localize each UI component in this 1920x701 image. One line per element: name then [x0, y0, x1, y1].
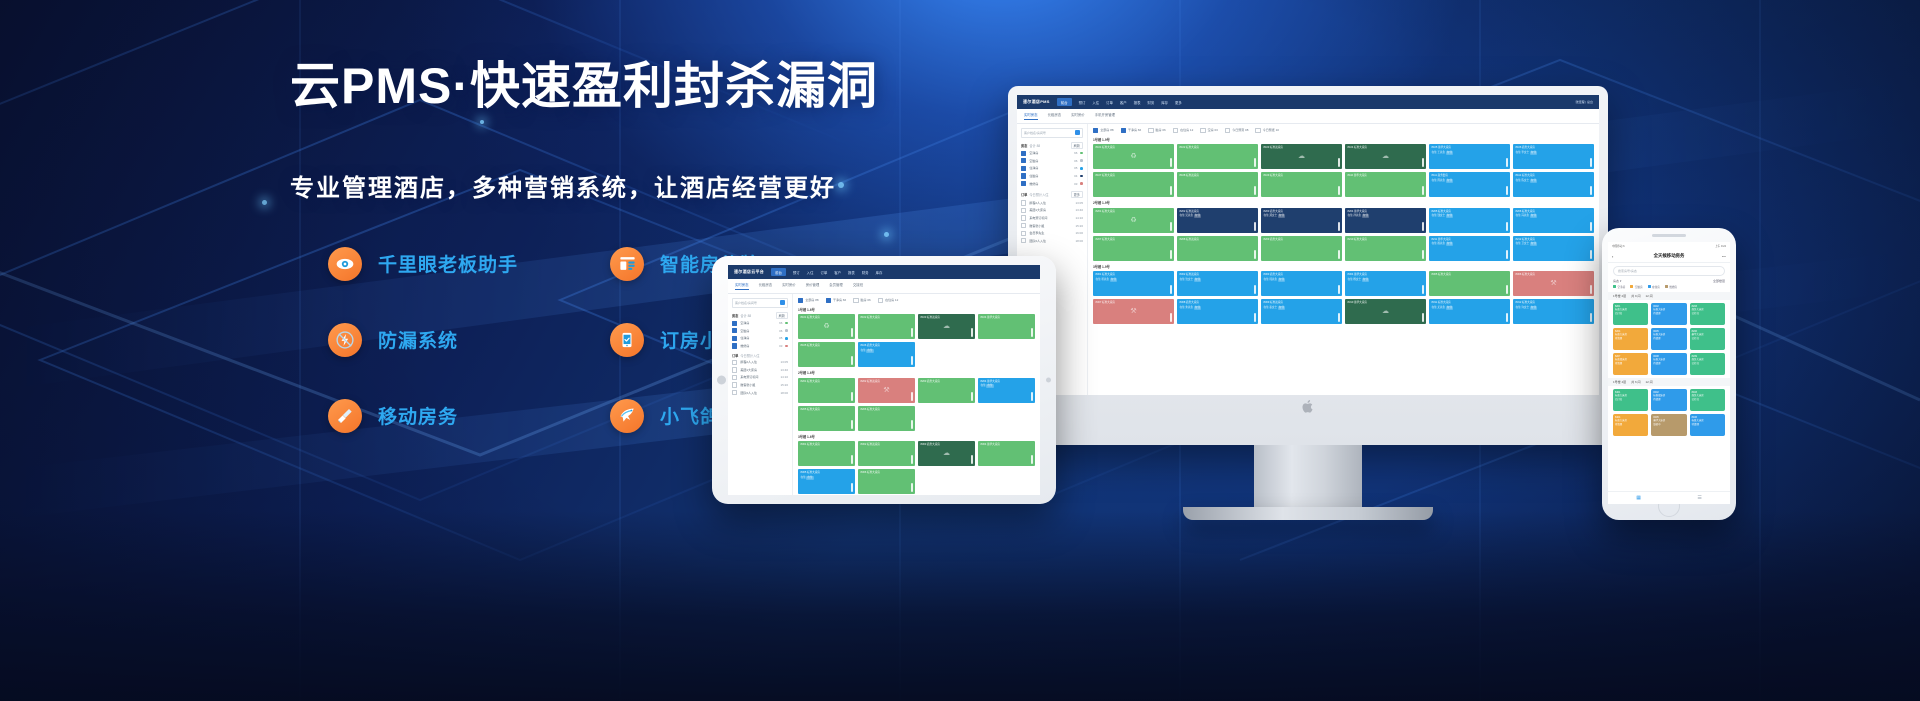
room-card[interactable]: 8205 标准大床房在住 钱女士 在住	[1429, 208, 1510, 233]
legend-value: 04	[1074, 174, 1077, 178]
legend-checkbox[interactable]	[1021, 181, 1026, 186]
tablet-nav-item-customers[interactable]: 客户	[834, 270, 841, 275]
room-card[interactable]: 8204 豪华大床房在住 在住	[978, 378, 1035, 403]
room-card[interactable]: 8308 商务大床房在住 朱先生 在住	[1177, 299, 1258, 324]
legend-checkbox[interactable]	[732, 328, 737, 333]
room-card[interactable]: 8304 豪华大床房在住 杨女士 在住	[1345, 271, 1426, 296]
room-progress-bar	[1506, 285, 1508, 294]
nav-item-booking[interactable]: 预订	[1079, 100, 1086, 105]
tablet-orders-list: 携程2人入住13:05美团1大床房13:40来电预订标间14:10散客张小姐15…	[732, 360, 788, 396]
room-card[interactable]: 8305 标准大床房	[1429, 271, 1510, 296]
nav-item-frontdesk[interactable]: 前台	[1057, 98, 1072, 106]
order-row[interactable]: 团队6人入住18:00	[1021, 238, 1083, 243]
room-filter-checkbox[interactable]: 全部房 88	[798, 298, 819, 303]
room-number-and-type: 8205 标准大床房	[801, 408, 853, 412]
tablet-nav-item-frontdesk[interactable]: 前台	[771, 268, 786, 276]
legend-color-dot	[1080, 175, 1083, 178]
room-card[interactable]: 8312 标准大床房在住 许女士 在住	[1513, 299, 1594, 324]
tablet-tab-rates[interactable]: 实时房价	[782, 282, 796, 290]
order-title: 订单	[1021, 192, 1027, 197]
carrier-label: 中国移动 ὏6	[1612, 244, 1625, 248]
phone-room-card[interactable]: 8406标准大床房待清理	[1690, 414, 1725, 436]
checkbox-box[interactable]	[826, 298, 831, 303]
room-progress-bar	[1338, 313, 1340, 322]
room-progress-bar	[1338, 222, 1340, 231]
room-progress-bar	[1506, 313, 1508, 322]
room-status-header: 房态 合计 88 刷新	[1021, 142, 1083, 149]
room-number-and-type: 8104 豪华大床房	[981, 316, 1033, 320]
phone-floor-heading: 1号楼 4层共 6 间12 间	[1608, 378, 1730, 386]
pms-main-panel: 全部房 88干净房 66脏房 06在住房 12空房 03今日预离 08今日预抵 …	[1088, 124, 1599, 396]
room-card[interactable]: 8112 标准大床房在住 陈女士 在住	[1513, 172, 1594, 197]
phone-legend: 空净房空脏房在住房维修房	[1608, 285, 1730, 292]
room-card[interactable]: 8303 商务大床房在住 韩先生 在住	[1261, 271, 1342, 296]
room-card[interactable]: 8206 标准大床房在住 冯先生 在住	[1513, 208, 1594, 233]
tablet-nav-item-inventory[interactable]: 库存	[876, 270, 883, 275]
checkbox-box[interactable]	[1148, 128, 1153, 133]
order-time: 13:40	[1075, 208, 1083, 212]
nav-item-reports[interactable]: 报表	[1134, 100, 1141, 105]
room-card[interactable]: 8106 商务大床房在住 李女士 在住	[1513, 144, 1594, 169]
room-status-legend-row[interactable]: 空脏房06	[732, 328, 788, 333]
desktop-monitor-mockup: 速尔酒店PMS 前台 预订 入住 订单 客户 报表 财务 库存 更多 张经理 |…	[1008, 86, 1608, 520]
room-card[interactable]: 8109 标准大床房	[1261, 172, 1342, 197]
room-card[interactable]: 8201 标准大床房♻	[1093, 208, 1174, 233]
room-progress-bar	[971, 392, 973, 401]
room-card[interactable]: 8304 豪华大床房	[978, 441, 1035, 466]
room-number-and-type: 8108 标准双床房	[1180, 174, 1256, 178]
legend-checkbox[interactable]	[1021, 173, 1026, 178]
room-card[interactable]: 8301 标准大床房在住 蒋先生 在住	[1093, 271, 1174, 296]
room-number-and-type: 8103 标准双床房	[1264, 146, 1340, 150]
monitor-chin	[1017, 395, 1599, 417]
arriving-orders-list: 携程2人入住13:05美团1大床房13:40来电预订标间14:10散客张小姐15…	[1021, 200, 1083, 243]
room-status-legend-row[interactable]: 维修房03	[732, 343, 788, 348]
tablet-tab-shift[interactable]: 交接班	[853, 282, 863, 290]
order-checkbox[interactable]	[732, 390, 737, 395]
room-card[interactable]: 8202 标准双床房在住 吴先生 在住	[1177, 208, 1258, 233]
phone-legend-item: 空净房	[1613, 285, 1625, 289]
feature-item-antileak[interactable]: 防漏系统	[328, 323, 610, 357]
phone-room-state: 待清理	[1615, 337, 1646, 340]
nav-item-finance[interactable]: 财务	[1147, 100, 1154, 105]
search-icon[interactable]	[1075, 130, 1080, 135]
tablet-search-placeholder: 客户姓名/房间号	[735, 301, 757, 305]
tablet-search-input[interactable]: 客户姓名/房间号	[732, 298, 788, 308]
room-number-and-type: 8101 标准大床房	[1096, 146, 1172, 150]
tablet-tab-realtime-status[interactable]: 实时房态	[735, 282, 749, 290]
pms-body: 客户姓名/房间号 房态 合计 88 刷新 空净房66空脏房06住净房05住脏房0…	[1017, 124, 1599, 396]
phone-floor-meta2: 12 间	[1646, 294, 1653, 298]
tablet-search-icon[interactable]	[780, 300, 785, 305]
room-card[interactable]: 8108 标准双床房	[1177, 172, 1258, 197]
phone-room-card[interactable]: 8202标准大床房待清理	[1651, 303, 1686, 325]
room-card[interactable]: 8210 标准大床房	[1345, 236, 1426, 261]
phone-room-card[interactable]: 8401标准大床房已打扫	[1613, 389, 1648, 411]
floor-heading: 3号楼 1-6号	[798, 434, 1035, 439]
tablet-room-status-title: 房态	[732, 313, 738, 318]
room-card[interactable]: 8104 豪华大床房	[978, 314, 1035, 339]
tab-mobile-checkin-mgmt[interactable]: 手机开房管理	[1095, 112, 1115, 120]
room-card[interactable]: 8212 标准大床房在住 卫女士 在住	[1513, 236, 1594, 261]
phone-room-card[interactable]: 8205标准大床房待清理	[1651, 328, 1686, 350]
order-row[interactable]: 携程2人入住13:05	[1021, 200, 1083, 205]
room-card[interactable]: 8104 标准大床房☁	[1345, 144, 1426, 169]
room-card[interactable]: 8306 标准大床房	[858, 469, 915, 494]
room-card[interactable]: 8202 标准双床房⚒	[858, 378, 915, 403]
room-state-icon: ♻	[823, 322, 829, 333]
phone-room-state: 已打扫	[1692, 312, 1723, 315]
checkbox-label: 在住房 12	[1180, 128, 1193, 132]
room-progress-bar	[1422, 186, 1424, 195]
room-number-and-type: 8110 豪华大床房	[1348, 174, 1424, 178]
room-filter-checkboxes: 全部房 88干净房 66脏房 06在住房 12空房 03今日预离 08今日预抵 …	[1093, 128, 1594, 133]
tablet-tab-rate-mgmt[interactable]: 房价管理	[806, 282, 820, 290]
order-row[interactable]: 美团1大床房13:40	[1021, 208, 1083, 213]
hero-banner: 云PMS·快速盈利封杀漏洞 专业管理酒店，多种营销系统，让酒店经营更好 千里眼老…	[0, 0, 1920, 701]
room-progress-bar	[1170, 250, 1172, 259]
checkbox-box[interactable]	[878, 298, 883, 303]
room-occupant: 在住 钱女士 在住	[1432, 214, 1508, 218]
phone-room-card[interactable]: 8208标准大床房待清理	[1651, 353, 1686, 375]
room-card[interactable]: 8211 豪华大床房在住 褚先生 在住	[1429, 236, 1510, 261]
phone-room-card[interactable]: 8207标准双床房待清理	[1613, 353, 1648, 375]
checkbox-box[interactable]	[1093, 128, 1098, 133]
order-checkbox[interactable]	[732, 367, 737, 372]
nav-item-checkin[interactable]: 入住	[1092, 100, 1099, 105]
room-grid-container: 1号楼 1-9号8101 标准大床房♻8102 标准大床房8103 标准双床房☁…	[1093, 137, 1594, 325]
room-progress-bar	[1422, 250, 1424, 259]
phone-legend-item: 空脏房	[1630, 285, 1642, 289]
room-card[interactable]: 8204 豪华大床房在住 孙先生 在住	[1345, 208, 1426, 233]
nav-user-info[interactable]: 张经理 | 总台	[1576, 100, 1593, 104]
room-filter-checkbox[interactable]: 干净房 66	[1121, 128, 1142, 133]
legend-checkbox[interactable]	[732, 321, 737, 326]
legend-checkbox[interactable]	[732, 336, 737, 341]
room-card[interactable]: 8203 商务大床房在住 郑女士 在住	[1261, 208, 1342, 233]
order-checkbox[interactable]	[1021, 215, 1026, 220]
monitor-bezel: 速尔酒店PMS 前台 预订 入住 订单 客户 报表 财务 库存 更多 张经理 |…	[1008, 86, 1608, 445]
tablet-camera	[1046, 378, 1051, 383]
tablet-nav-item-orders[interactable]: 订单	[820, 270, 827, 275]
checkbox-label: 脏房 06	[861, 298, 871, 302]
room-card[interactable]: 8102 标准大床房	[858, 314, 915, 339]
phone-room-state: 待清理	[1653, 398, 1684, 401]
back-icon[interactable]: ‹	[1612, 254, 1613, 259]
floor-heading: 1号楼 1-9号	[1093, 137, 1594, 142]
checkbox-label: 今日预抵 10	[1263, 128, 1279, 132]
legend-swatch	[1648, 285, 1651, 288]
checkbox-box[interactable]	[1121, 128, 1126, 133]
phone-room-card[interactable]: 8206豪华大床房已打扫	[1690, 328, 1725, 350]
order-checkbox[interactable]	[1021, 208, 1026, 213]
room-card[interactable]: 8101 标准大床房♻	[798, 314, 855, 339]
tablet-refresh-button[interactable]: 刷新	[776, 312, 788, 319]
phone-room-state: 已打扫	[1692, 398, 1723, 401]
phone-room-grid: 8401标准大床房已打扫8402标准双床房待清理8403商务大床房已打扫8404…	[1608, 386, 1730, 439]
tablet-room-status-header: 房态 合计 88 刷新	[732, 312, 788, 319]
room-card[interactable]: 8206 标准大床房	[858, 406, 915, 431]
legend-label: 空净房	[740, 321, 749, 325]
phone-room-card[interactable]: 8403商务大床房已打扫	[1690, 389, 1725, 411]
room-chip: 在住	[1530, 306, 1537, 310]
room-filter-checkbox[interactable]: 今日预抵 10	[1255, 128, 1279, 133]
room-filter-checkbox[interactable]: 全部房 88	[1093, 128, 1114, 133]
order-label: 美团1大床房	[1029, 208, 1046, 212]
order-label: 携程2人入住	[1029, 201, 1046, 205]
order-row[interactable]: 散客张小姐15:20	[1021, 223, 1083, 228]
phone-screen: 中国移动 ὏6 上午 9:24 ‹ 全天候移动房务 ⋯ 搜索房号/房态 房态 ▾…	[1608, 242, 1730, 504]
tablet-sidebar: 客户姓名/房间号 房态 合计 88 刷新 空净房66空脏房06住净房05维修房0…	[728, 294, 793, 496]
room-card[interactable]: 8307 标准大床房⚒	[1093, 299, 1174, 324]
room-status-legend-row[interactable]: 住净房05	[732, 336, 788, 341]
phone-room-grid: 8201标准大床房已打扫8202标准大床房待清理8203商务大床房已打扫8204…	[1608, 300, 1730, 378]
order-checkbox[interactable]	[732, 360, 737, 365]
room-filter-checkbox[interactable]: 脏房 06	[853, 298, 871, 303]
order-row[interactable]: 美团1大床房13:40	[732, 367, 788, 372]
order-time: 13:05	[1075, 201, 1083, 205]
room-card[interactable]: 8105 豪华大床房在住 王先生 在住	[1429, 144, 1510, 169]
order-time: 14:10	[780, 375, 788, 379]
room-number-and-type: 8307 标准大床房	[1096, 301, 1172, 305]
phone-floor-meta: 共 9 间	[1631, 294, 1640, 298]
room-status-legend-row[interactable]: 住脏房04	[1021, 173, 1083, 178]
order-time: 18:00	[1075, 239, 1083, 243]
nav-item-inventory[interactable]: 库存	[1161, 100, 1168, 105]
tablet-nav-item-checkin[interactable]: 入住	[807, 270, 814, 275]
room-progress-bar	[1338, 158, 1340, 167]
legend-value: 66	[779, 321, 782, 325]
order-time: 15:20	[1075, 224, 1083, 228]
room-progress-bar	[911, 420, 913, 429]
phone-room-state: 已打扫	[1615, 398, 1646, 401]
room-chip: 在住	[1278, 278, 1285, 282]
room-progress-bar	[1254, 313, 1256, 322]
room-card[interactable]: 8205 标准大床房	[798, 406, 855, 431]
checkbox-box[interactable]	[1173, 128, 1178, 133]
checkbox-box[interactable]	[1200, 128, 1205, 133]
phone-floor-filter[interactable]: 全部楼层	[1713, 279, 1725, 283]
room-occupant: 在住 蒋先生 在住	[1096, 278, 1172, 282]
room-grid: 8301 标准大床房8302 标准双床房8303 商务大床房☁8304 豪华大床…	[798, 441, 1035, 494]
more-options-icon[interactable]: ⋯	[1722, 254, 1726, 259]
room-card[interactable]: 8306 标准大床房⚒	[1513, 271, 1594, 296]
room-card[interactable]: 8105 标准大床房	[798, 342, 855, 367]
pigeon-icon	[610, 399, 644, 433]
room-number-and-type: 8109 标准大床房	[1264, 174, 1340, 178]
room-card[interactable]: 8311 标准大床房在住 尤先生 在住	[1429, 299, 1510, 324]
room-chip: 在住	[1446, 151, 1453, 155]
tablet-tab-member-mgmt[interactable]: 会员管理	[829, 282, 843, 290]
legend-value: 05	[1074, 166, 1077, 170]
order-checkbox[interactable]	[1021, 231, 1026, 236]
room-number-and-type: 8203 商务大床房	[921, 380, 973, 384]
order-row[interactable]: 来电预订标间14:10	[732, 375, 788, 380]
search-input[interactable]: 客户姓名/房间号	[1021, 128, 1083, 138]
room-progress-bar	[1254, 222, 1256, 231]
room-card[interactable]: 8101 标准大床房♻	[1093, 144, 1174, 169]
room-filter-checkbox[interactable]: 今日预离 08	[1225, 128, 1249, 133]
room-filter-checkbox[interactable]: 干净房 66	[826, 298, 847, 303]
refresh-button[interactable]: 刷新	[1071, 142, 1083, 149]
checkbox-box[interactable]	[1225, 128, 1230, 133]
phone-search-placeholder: 搜索房号/房态	[1618, 269, 1637, 273]
room-card[interactable]: 8310 豪华大床房☁	[1345, 299, 1426, 324]
order-checkbox[interactable]	[732, 375, 737, 380]
room-progress-bar	[851, 392, 853, 401]
checkbox-label: 干净房 66	[1128, 128, 1141, 132]
legend-checkbox[interactable]	[732, 343, 737, 348]
room-number-and-type: 8305 标准大床房	[1432, 273, 1508, 277]
legend-checkbox[interactable]	[1021, 151, 1026, 156]
room-chip: 在住	[1530, 151, 1537, 155]
room-number-and-type: 8208 标准双床房	[1180, 238, 1256, 242]
tablet-order-header: 订单 今日预计入住	[732, 353, 788, 358]
legend-value: 66	[1074, 151, 1077, 155]
order-row[interactable]: 来电预订标间14:10	[1021, 215, 1083, 220]
nav-item-customers[interactable]: 客户	[1120, 100, 1127, 105]
room-chip: 在住	[1278, 306, 1285, 310]
tab-realtime-rates[interactable]: 实时房价	[1071, 112, 1085, 120]
legend-value: 03	[1074, 182, 1077, 186]
room-card[interactable]: 8302 标准双床房在住 沈女士 在住	[1177, 271, 1258, 296]
room-number-and-type: 8305 标准大床房	[801, 471, 853, 475]
room-card[interactable]: 8305 标准大床房在住 在住	[798, 469, 855, 494]
room-occupant: 在住 李女士 在住	[1516, 151, 1592, 155]
room-card[interactable]: 8201 标准大床房	[798, 378, 855, 403]
room-progress-bar	[1254, 250, 1256, 259]
phone-room-card[interactable]: 8201标准大床房已打扫	[1613, 303, 1648, 325]
room-card[interactable]: 8303 商务大床房☁	[918, 441, 975, 466]
phone-room-card[interactable]: 8405豪华大床房维修中	[1651, 414, 1686, 436]
phone-room-card[interactable]: 8204标准大床房待清理	[1613, 328, 1648, 350]
phone-room-card[interactable]: 8203商务大床房已打扫	[1690, 303, 1725, 325]
room-progress-bar	[911, 483, 913, 492]
order-label: 携程2人入住	[740, 360, 757, 364]
room-number-and-type: 8111 商务套房	[1432, 174, 1508, 178]
room-card[interactable]: 8111 商务套房在住 周先生 在住	[1429, 172, 1510, 197]
legend-checkbox[interactable]	[1021, 158, 1026, 163]
room-filter-checkbox[interactable]: 在住房 12	[1173, 128, 1194, 133]
no-leak-icon	[328, 323, 362, 357]
checkbox-box[interactable]	[798, 298, 803, 303]
legend-swatch	[1665, 285, 1668, 288]
phone-room-card[interactable]: 8209商务大床房已打扫	[1690, 353, 1725, 375]
floor-heading: 2号楼 1-6号	[798, 370, 1035, 375]
room-status-title: 房态	[1021, 143, 1027, 148]
room-status-legend-row[interactable]: 空净房66	[1021, 151, 1083, 156]
room-chip: 在住	[1110, 278, 1117, 282]
tab-realtime-room-status[interactable]: 实时房态	[1024, 112, 1038, 120]
room-state-icon: ⚒	[1130, 307, 1136, 318]
room-occupant: 在住 吴先生 在住	[1180, 214, 1256, 218]
phone-tab-rooms-icon[interactable]: ▦	[1636, 495, 1641, 501]
phone-tab-menu-icon[interactable]: ☰	[1697, 495, 1701, 501]
checkbox-label: 全部房 88	[1100, 128, 1113, 132]
legend-color-dot	[785, 329, 788, 332]
room-progress-bar	[1590, 186, 1592, 195]
phone-room-card[interactable]: 8404标准大床房待清理	[1613, 414, 1648, 436]
room-card[interactable]: 8107 标准大床房	[1093, 172, 1174, 197]
order-more-button[interactable]: 更多	[1071, 191, 1083, 198]
room-status-legend-row[interactable]: 住净房05	[1021, 166, 1083, 171]
phone-room-state: 待清理	[1653, 337, 1684, 340]
order-checkbox[interactable]	[1021, 238, 1026, 243]
order-row[interactable]: 散客张小姐15:20	[732, 382, 788, 387]
room-status-legend-row[interactable]: 维修房03	[1021, 181, 1083, 186]
room-card[interactable]: 8103 标准双床房☁	[918, 314, 975, 339]
room-number-and-type: 8306 标准大床房	[1516, 273, 1592, 277]
phone-status-filter[interactable]: 房态 ▾	[1613, 279, 1621, 283]
room-card[interactable]: 8209 商务大床房	[1261, 236, 1342, 261]
room-number-and-type: 8102 标准大床房	[1180, 146, 1256, 150]
room-status-legend-row[interactable]: 空脏房06	[1021, 158, 1083, 163]
tablet-nav-item-booking[interactable]: 预订	[793, 270, 800, 275]
feature-item-qianliyan[interactable]: 千里眼老板助手	[328, 247, 610, 281]
floor-heading: 3号楼 1-9号	[1093, 264, 1594, 269]
tablet-home-button[interactable]	[717, 376, 726, 385]
order-checkbox[interactable]	[1021, 223, 1026, 228]
tablet-nav-item-reports[interactable]: 报表	[848, 270, 855, 275]
tablet-tab-longstay[interactable]: 长租房态	[759, 282, 773, 290]
tablet-nav-item-finance[interactable]: 财务	[862, 270, 869, 275]
room-card[interactable]: 8208 标准双床房	[1177, 236, 1258, 261]
room-grid: 8201 标准大床房8202 标准双床房⚒8203 商务大床房8204 豪华大床…	[798, 378, 1035, 431]
room-number-and-type: 8107 标准大床房	[1096, 174, 1172, 178]
checkbox-label: 今日预离 08	[1232, 128, 1248, 132]
room-filter-checkbox[interactable]: 在住房 12	[878, 298, 899, 303]
room-filter-checkbox[interactable]: 空房 03	[1200, 128, 1218, 133]
room-filter-checkbox[interactable]: 脏房 06	[1148, 128, 1166, 133]
room-card[interactable]: 8102 标准大床房	[1177, 144, 1258, 169]
tab-longstay-status[interactable]: 长租房态	[1048, 112, 1062, 120]
legend-label: 空脏房	[1029, 159, 1038, 163]
room-card[interactable]: 8207 标准大床房	[1093, 236, 1174, 261]
order-checkbox[interactable]	[732, 382, 737, 387]
order-label: 美团1大床房	[740, 368, 757, 372]
nav-item-more[interactable]: 更多	[1175, 100, 1182, 105]
room-card[interactable]: 8106 商务大床房在住 在住	[858, 342, 915, 367]
legend-value: 05	[779, 336, 782, 340]
legend-checkbox[interactable]	[1021, 166, 1026, 171]
room-card[interactable]: 8203 商务大床房	[918, 378, 975, 403]
room-card[interactable]: 8103 标准双床房☁	[1261, 144, 1342, 169]
checkbox-label: 全部房 88	[805, 298, 818, 302]
room-progress-bar	[971, 328, 973, 337]
checkbox-label: 空房 03	[1208, 128, 1218, 132]
room-state-icon: ⚒	[1550, 279, 1556, 290]
room-card[interactable]: 8301 标准大床房	[798, 441, 855, 466]
legend-color-dot	[1080, 182, 1083, 185]
nav-item-orders[interactable]: 订单	[1106, 100, 1113, 105]
checkbox-box[interactable]	[853, 298, 858, 303]
phone-search-input[interactable]: 搜索房号/房态	[1613, 266, 1725, 276]
feature-item-mobile-housekeeping[interactable]: 移动房务	[328, 399, 610, 433]
order-row[interactable]: 团队6人入住18:00	[732, 390, 788, 395]
room-progress-bar	[911, 392, 913, 401]
tablet-order-subtitle: 今日预计入住	[740, 353, 759, 358]
room-number-and-type: 8112 标准大床房	[1516, 174, 1592, 178]
order-checkbox[interactable]	[1021, 200, 1026, 205]
room-status-legend-row[interactable]: 空净房66	[732, 321, 788, 326]
room-card[interactable]: 8309 标准双床房在住 秦女士 在住	[1261, 299, 1342, 324]
phone-room-card[interactable]: 8402标准双床房待清理	[1651, 389, 1686, 411]
order-row[interactable]: 会员李先生16:00	[1021, 231, 1083, 236]
order-row[interactable]: 携程2人入住13:05	[732, 360, 788, 365]
checkbox-box[interactable]	[1255, 128, 1260, 133]
room-card[interactable]: 8302 标准双床房	[858, 441, 915, 466]
room-card[interactable]: 8110 豪华大床房	[1345, 172, 1426, 197]
